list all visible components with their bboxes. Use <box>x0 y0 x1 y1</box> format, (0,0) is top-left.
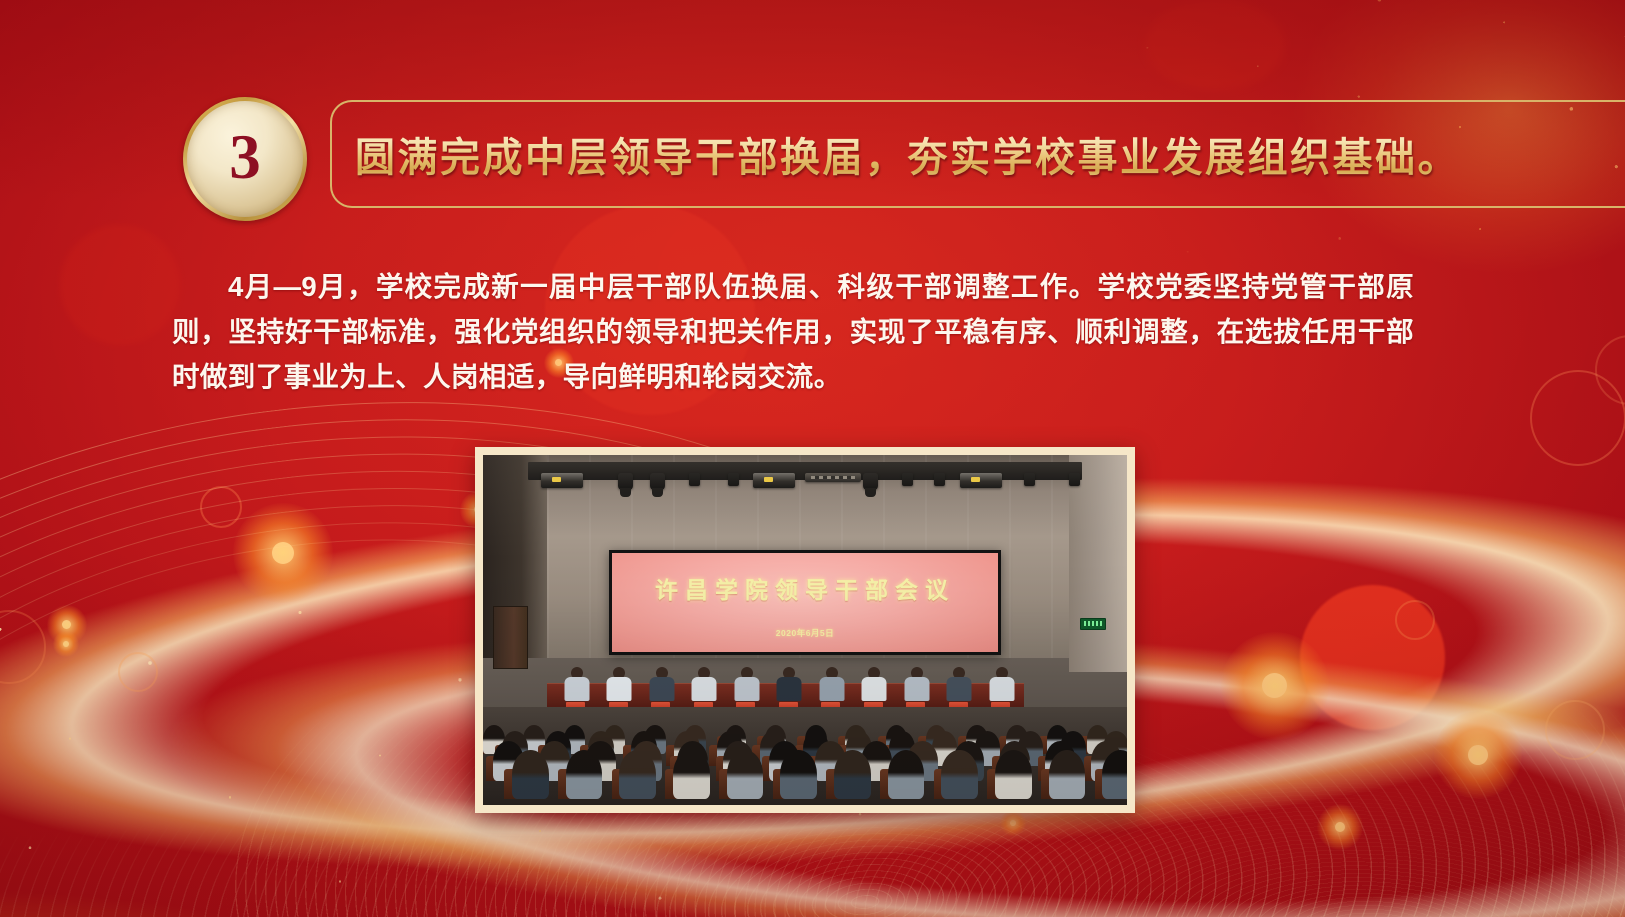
panelist-body <box>649 677 674 701</box>
panelist-body <box>947 677 972 701</box>
panelist-body <box>862 677 887 701</box>
stage-light-icon <box>960 473 1002 488</box>
panelist <box>734 667 760 701</box>
meeting-photo: 许昌学院领导干部会议 2020年6月5日 <box>483 455 1127 805</box>
stage-light-icon <box>1069 473 1080 486</box>
panelist <box>776 667 802 701</box>
panelist <box>989 667 1015 701</box>
audience-person <box>727 750 764 799</box>
audience-person <box>834 750 871 799</box>
panelist <box>946 667 972 701</box>
meeting-photo-frame: 许昌学院领导干部会议 2020年6月5日 <box>475 447 1135 813</box>
screen-title-text: 许昌学院领导干部会议 <box>655 571 955 605</box>
panelist-body <box>564 677 589 701</box>
audience-person <box>780 750 817 799</box>
exit-sign-icon <box>1080 618 1106 630</box>
screen-date-text: 2020年6月5日 <box>776 627 834 639</box>
panelist-body <box>904 677 929 701</box>
body-paragraph: 4月—9月，学校完成新一届中层干部队伍换届、科级干部调整工作。学校党委坚持党管干… <box>172 264 1414 399</box>
stage-light-icon <box>934 473 945 486</box>
stage-light-icon <box>902 473 913 486</box>
stage-light-icon <box>753 473 795 488</box>
audience-person <box>995 750 1032 799</box>
audience-person <box>512 750 549 799</box>
projection-screen-surface: 许昌学院领导干部会议 2020年6月5日 <box>612 553 999 652</box>
audience-person <box>673 750 710 799</box>
panelist-body <box>989 677 1014 701</box>
panelist-body <box>607 677 632 701</box>
section-number-badge-inner: 3 <box>187 101 303 217</box>
stage-light-icon <box>541 473 583 488</box>
hall-door <box>493 606 528 669</box>
audience-person <box>1049 750 1086 799</box>
panelist <box>649 667 675 701</box>
stage-light-icon <box>728 473 739 486</box>
stage-light-icon <box>1024 473 1035 486</box>
audience-person <box>941 750 978 799</box>
projection-screen: 许昌学院领导干部会议 2020年6月5日 <box>609 550 1002 655</box>
panelist <box>861 667 887 701</box>
audience-person <box>1102 750 1127 799</box>
audience-person <box>619 750 656 799</box>
panelist-body <box>777 677 802 701</box>
slide-header: 3 圆满完成中层领导干部换届，夯实学校事业发展组织基础。 <box>0 0 1625 230</box>
section-number-badge: 3 <box>183 97 307 221</box>
panelist-body <box>819 677 844 701</box>
panelist <box>691 667 717 701</box>
audience-person <box>888 750 925 799</box>
stage-light-icon <box>863 473 878 490</box>
hall-wall-right <box>1069 455 1127 672</box>
audience-person <box>566 750 603 799</box>
section-number-text: 3 <box>229 126 261 189</box>
panelist <box>819 667 845 701</box>
slide-root: 3 圆满完成中层领导干部换届，夯实学校事业发展组织基础。 4月—9月，学校完成新… <box>0 0 1625 917</box>
panelist-body <box>692 677 717 701</box>
panelist <box>904 667 930 701</box>
panelist <box>606 667 632 701</box>
panelist-body <box>734 677 759 701</box>
stage-light-bar-icon <box>805 473 861 482</box>
page-title: 圆满完成中层领导干部换届，夯实学校事业发展组织基础。 <box>355 125 1460 183</box>
stage-light-icon <box>689 473 700 486</box>
section-title-box: 圆满完成中层领导干部换届，夯实学校事业发展组织基础。 <box>330 100 1625 208</box>
stage-light-icon <box>618 473 633 490</box>
panelist <box>564 667 590 701</box>
audience-area <box>483 707 1127 805</box>
stage-light-icon <box>650 473 665 490</box>
